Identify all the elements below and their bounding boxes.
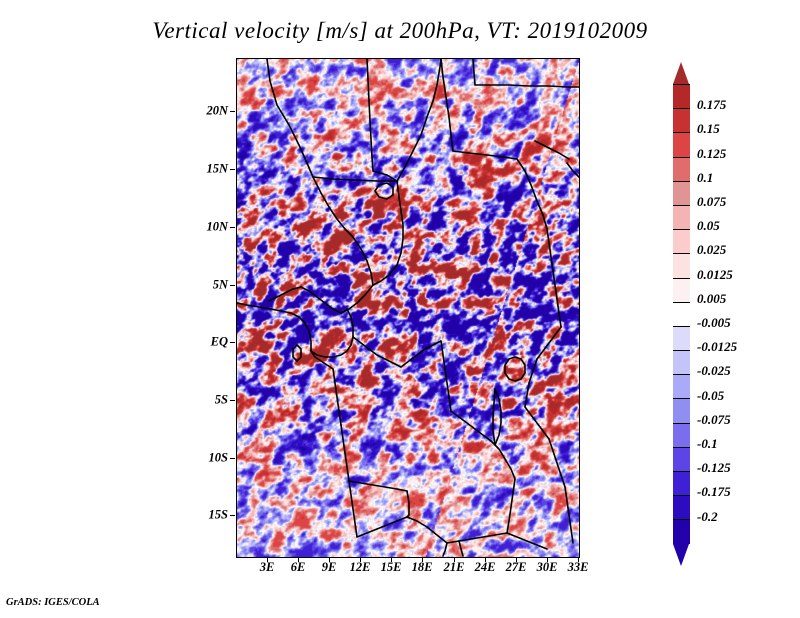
colorbar-swatch <box>673 471 690 495</box>
colorbar-tick-label: 0.0125 <box>697 267 733 283</box>
colorbar-swatch <box>673 423 690 447</box>
ytick-label-10s: 10S <box>209 451 228 466</box>
ytick-mark <box>230 515 235 516</box>
colorbar-swatch <box>673 108 690 132</box>
xtick-label-24e: 24E <box>475 560 496 575</box>
colorbar-tick-label: 0.075 <box>697 194 726 210</box>
ytick-mark <box>230 342 235 343</box>
colorbar-tick-label: 0.175 <box>697 97 726 113</box>
colorbar-swatch <box>673 253 690 277</box>
colorbar-swatch <box>673 132 690 156</box>
xtick-label-21e: 21E <box>444 560 465 575</box>
colorbar-tick-label: 0.05 <box>697 218 720 234</box>
xtick-label-3e: 3E <box>260 560 275 575</box>
chart-page: Vertical velocity [m/s] at 200hPa, VT: 2… <box>0 0 800 618</box>
colorbar-tick-label: 0.1 <box>697 170 713 186</box>
ytick-mark <box>230 285 235 286</box>
colorbar-tick-label: -0.025 <box>697 363 731 379</box>
xtick-label-18e: 18E <box>412 560 433 575</box>
colorbar-tick-label: 0.025 <box>697 242 726 258</box>
colorbar-swatch <box>673 157 690 181</box>
colorbar-tick-label: -0.05 <box>697 388 724 404</box>
ytick-label-10n: 10N <box>206 220 228 235</box>
xtick-label-27e: 27E <box>506 560 527 575</box>
map-plot-area <box>236 58 580 558</box>
xtick-label-12e: 12E <box>350 560 371 575</box>
colorbar-tick-label: 0.125 <box>697 146 726 162</box>
colorbar-tick-label: -0.175 <box>697 484 731 500</box>
ytick-mark <box>230 458 235 459</box>
colorbar-swatch <box>673 495 690 519</box>
colorbar-tick-label: -0.2 <box>697 509 718 525</box>
ytick-label-20n: 20N <box>206 104 228 119</box>
colorbar-swatch <box>673 447 690 471</box>
ytick-label-5n: 5N <box>213 278 228 293</box>
colorbar-tick-label: -0.005 <box>697 315 731 331</box>
colorbar-swatch <box>673 181 690 205</box>
ytick-label-5s: 5S <box>215 393 228 408</box>
xtick-label-15e: 15E <box>381 560 402 575</box>
colorbar-tick-label: -0.125 <box>697 460 731 476</box>
colorbar-swatch <box>673 84 690 108</box>
colorbar-tick-label: -0.0125 <box>697 339 737 355</box>
ytick-label-15n: 15N <box>206 162 228 177</box>
colorbar-swatch <box>673 278 690 302</box>
ytick-label-eq: EQ <box>211 335 228 350</box>
page-title: Vertical velocity [m/s] at 200hPa, VT: 2… <box>0 18 800 44</box>
colorbar <box>673 62 690 566</box>
ytick-mark <box>230 400 235 401</box>
colorbar-swatch <box>673 302 690 326</box>
ytick-mark <box>230 169 235 170</box>
ytick-mark <box>230 111 235 112</box>
colorbar-swatch <box>673 205 690 229</box>
colorbar-swatch <box>673 350 690 374</box>
colorbar-tick-label: -0.1 <box>697 436 718 452</box>
colorbar-swatch <box>673 519 690 543</box>
colorbar-tick-label: 0.15 <box>697 121 720 137</box>
vertical-velocity-field <box>237 59 579 557</box>
colorbar-swatch <box>673 326 690 350</box>
colorbar-tick-label: 0.005 <box>697 291 726 307</box>
xtick-label-30e: 30E <box>537 560 558 575</box>
xtick-label-6e: 6E <box>291 560 306 575</box>
xtick-label-9e: 9E <box>322 560 337 575</box>
colorbar-tick-label: -0.075 <box>697 412 731 428</box>
ytick-label-15s: 15S <box>209 508 228 523</box>
ytick-mark <box>230 227 235 228</box>
xtick-label-33e: 33E <box>568 560 589 575</box>
colorbar-swatch <box>673 229 690 253</box>
colorbar-cap-top-icon <box>673 62 689 84</box>
colorbar-swatch <box>673 374 690 398</box>
colorbar-cap-bottom-icon <box>673 544 689 566</box>
footer-credit: GrADS: IGES/COLA <box>6 597 100 608</box>
colorbar-swatch <box>673 398 690 422</box>
